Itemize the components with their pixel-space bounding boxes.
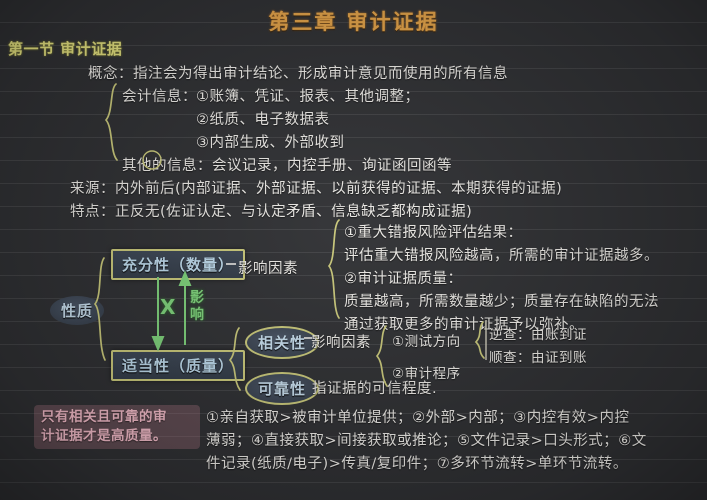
highlight-line-1: 只有相关且可靠的审 <box>41 408 193 427</box>
test-direction-1: 逆查：由账到证 <box>489 323 587 343</box>
accounting-item-2: ②纸质、电子数据表 <box>196 108 330 129</box>
feature-line: 特点：正反无(佐证认定、与认定矛盾、信息缺乏都构成证据) <box>70 200 472 221</box>
reliability-description: 指证据的可信程度. <box>312 377 437 398</box>
reliability-rule-line-2: 薄弱；④直接获取>间接获取或推论；⑤文件记录>口头形式；⑥文 <box>206 429 647 450</box>
reliability-node: 可靠性 <box>245 372 319 405</box>
no-effect-x-mark: X <box>160 295 175 319</box>
section-heading: 第一节 审计证据 <box>8 38 122 59</box>
influence-vertical-label: 影响 <box>190 290 204 324</box>
factor-1-title: ①重大错报风险评估结果： <box>344 221 523 242</box>
other-info-line: 其他的信息：会议记录，内控手册、询证函回函等 <box>122 154 452 175</box>
relevance-factor-label: 影响因素 <box>311 331 371 352</box>
relevance-node: 相关性 <box>245 326 319 359</box>
accounting-brace-icon <box>106 84 117 160</box>
reliability-rule-line-1: ①亲自获取>被审计单位提供；②外部>内部；③内控有效>内控 <box>206 406 629 427</box>
accounting-info-label: 会计信息： <box>122 85 197 106</box>
factor-2-body-line-1: 质量越高，所需数量越少；质量存在缺陷的无法 <box>344 290 659 311</box>
factor-brace-icon <box>329 220 339 318</box>
sufficiency-box: 充分性（数量） <box>111 249 245 280</box>
test-direction-2: 顺查：由证到账 <box>489 346 587 366</box>
concept-definition: 概念：指注会为得出审计结论、形成审计意见而使用的所有信息 <box>88 62 508 83</box>
factor-2-title: ②审计证据质量： <box>344 267 463 288</box>
accounting-item-1: ①账簿、凭证、报表、其他调整； <box>196 85 420 106</box>
highlight-line-2: 计证据才是高质量。 <box>41 427 193 446</box>
nature-node: 性质 <box>50 296 104 325</box>
page-title: 第三章 审计证据 <box>0 6 707 36</box>
appropriateness-box: 适当性（质量） <box>111 350 245 381</box>
down-arrow-head-icon <box>153 337 163 349</box>
relevance-item-1: ①测试方向 <box>392 330 461 350</box>
factor-1-body: 评估重大错报风险越高，所需的审计证据越多。 <box>344 244 659 265</box>
influence-factor-top-label: 影响因素 <box>238 257 298 278</box>
highlight-note: 只有相关且可靠的审 计证据才是高质量。 <box>34 405 200 449</box>
handwritten-note-page: 第三章 审计证据 第一节 审计证据 概念：指注会为得出审计结论、形成审计意见而使… <box>0 0 707 500</box>
source-line: 来源：内外前后(内部证据、外部证据、以前获得的证据、本期获得的证据) <box>70 177 562 198</box>
reliability-rule-line-3: 件记录(纸质/电子)>传真/复印件；⑦多环节流转>单环节流转。 <box>206 452 628 473</box>
accounting-item-3: ③内部生成、外部收到 <box>196 131 345 152</box>
